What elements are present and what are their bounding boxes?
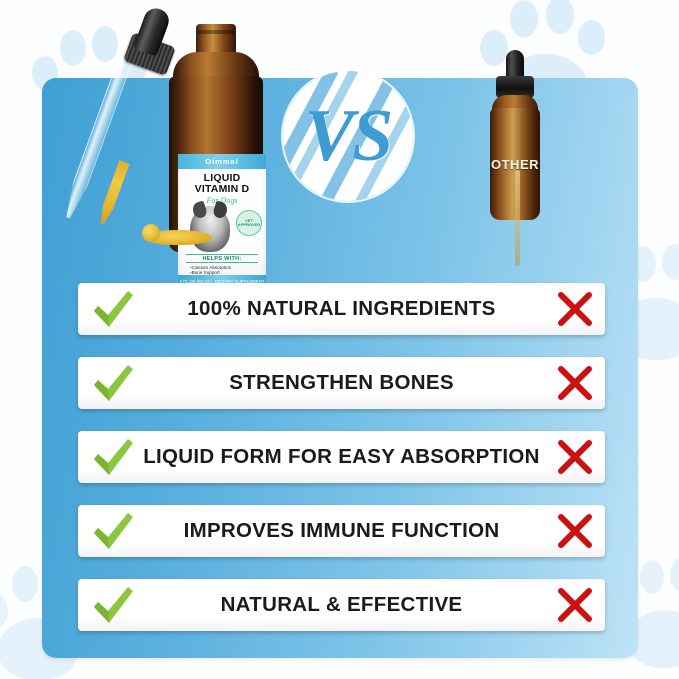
comparison-infographic: Oimmal LIQUID VITAMIN D For Dogs VET APP… (0, 0, 679, 679)
check-icon (90, 583, 136, 627)
comparison-row-list: 100% NATURAL INGREDIENTS STRENGTHEN BONE… (78, 283, 605, 631)
other-bottle-label: OTHER (491, 157, 539, 172)
check-icon (90, 509, 136, 553)
row-label: IMPROVES IMMUNE FUNCTION (124, 519, 560, 543)
pipette-oil (97, 160, 130, 226)
row-label: LIQUID FORM FOR EASY ABSORPTION (83, 445, 600, 469)
dog-photo (190, 206, 230, 252)
product-bottle-other: OTHER (487, 50, 543, 222)
cross-icon (555, 512, 595, 550)
cross-icon (555, 586, 595, 624)
versus-label: VS (305, 99, 392, 173)
cross-icon (555, 290, 595, 328)
other-pipette-tube (515, 170, 520, 266)
check-icon (90, 361, 136, 405)
table-row: 100% NATURAL INGREDIENTS (78, 283, 605, 335)
cross-icon (555, 364, 595, 402)
row-label: STRENGTHEN BONES (169, 371, 514, 395)
pipette-glass-tube (61, 57, 133, 220)
table-row: IMPROVES IMMUNE FUNCTION (78, 505, 605, 557)
dropper-pipette (62, 2, 192, 252)
versus-badge: VS (283, 71, 413, 201)
check-icon (90, 435, 136, 479)
vet-approved-badge: VET APPROVED (236, 210, 262, 236)
other-bottle-body: OTHER (490, 108, 540, 220)
table-row: STRENGTHEN BONES (78, 357, 605, 409)
helps-with-title: HELPS WITH: (186, 254, 258, 263)
check-icon (90, 287, 136, 331)
row-label: 100% NATURAL INGREDIENTS (127, 297, 555, 321)
table-row: NATURAL & EFFECTIVE (78, 579, 605, 631)
vet-approved-badge-text: VET APPROVED (237, 219, 261, 228)
row-label: NATURAL & EFFECTIVE (161, 593, 523, 617)
cross-icon (555, 438, 595, 476)
oil-drop (142, 224, 160, 242)
table-row: LIQUID FORM FOR EASY ABSORPTION (78, 431, 605, 483)
brand-name: Oimmal (205, 157, 239, 166)
